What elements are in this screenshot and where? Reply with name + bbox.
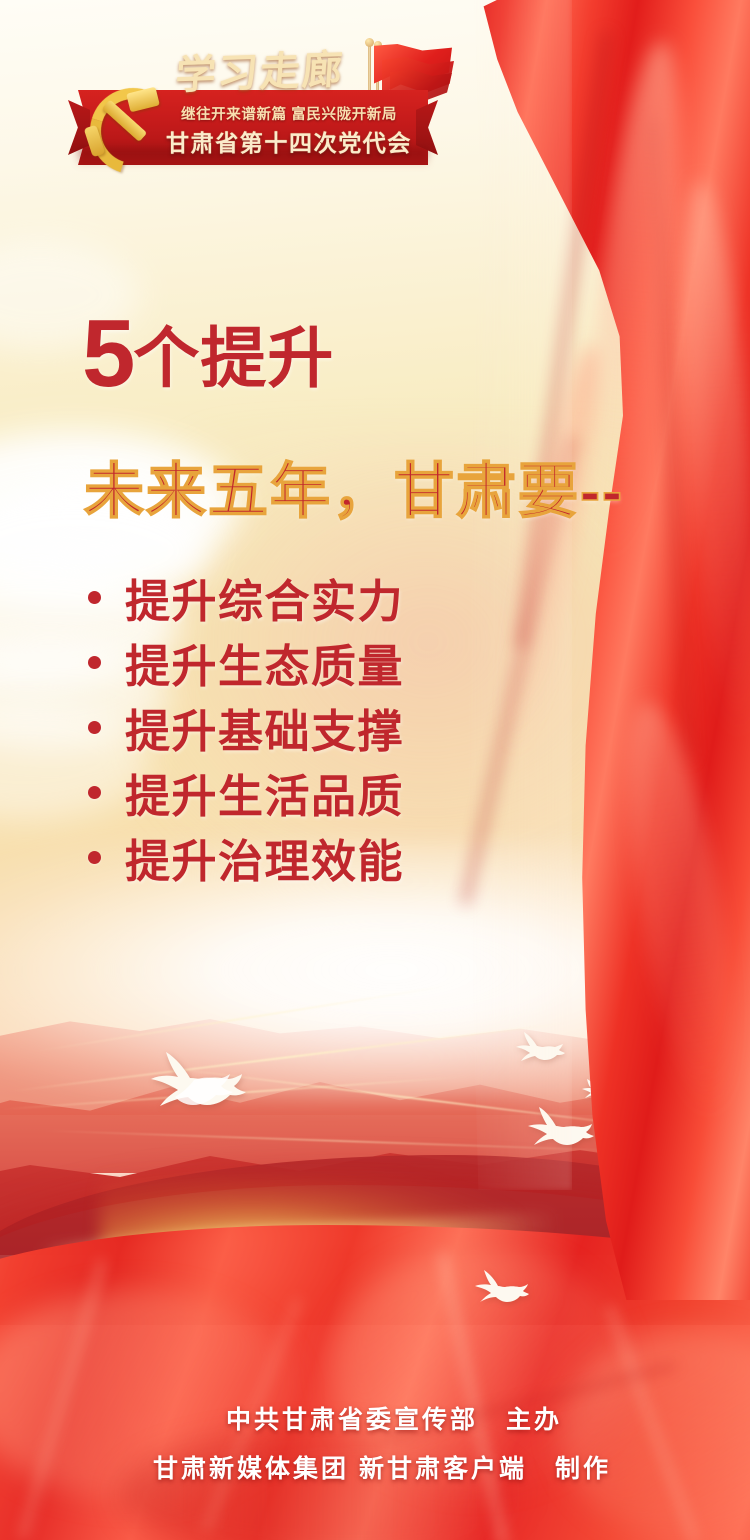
list-item-label: 提升生活品质: [125, 760, 404, 825]
list-item: 提升生态质量: [88, 630, 404, 695]
list-item-label: 提升生态质量: [125, 630, 404, 695]
footer: 中共甘肃省委宣传部 主办 甘肃新媒体集团 新甘肃客户端 制作: [0, 1400, 750, 1485]
list-item-label: 提升治理效能: [125, 825, 404, 890]
banner-subtitle-line2: 甘肃省第十四次党代会: [158, 124, 420, 158]
header-banner: 学习走廊 继往开来谱新篇 富民兴陇开新局 甘肃省第十四次党代会: [78, 40, 428, 165]
bullet-dot-icon: [88, 656, 101, 669]
footer-line-sponsor: 中共甘肃省委宣传部 主办: [0, 1400, 750, 1436]
bullet-dot-icon: [88, 591, 101, 604]
banner-subtitle-line1: 继往开来谱新篇 富民兴陇开新局: [158, 103, 420, 124]
list-item: 提升生活品质: [88, 760, 404, 825]
subheadline: 未来五年，甘肃要--: [84, 443, 624, 530]
list-item: 提升基础支撑: [88, 695, 404, 760]
dove-icon: [468, 1264, 530, 1312]
poster-canvas: 学习走廊 继往开来谱新篇 富民兴陇开新局 甘肃省第十四次党代会 5个提升 未来五…: [0, 0, 750, 1540]
headline-word: 个提升: [133, 321, 334, 395]
headline-number: 5: [82, 300, 133, 407]
list-item: 提升治理效能: [88, 825, 404, 890]
dove-icon: [138, 1040, 246, 1120]
bullet-dot-icon: [88, 786, 101, 799]
bullet-dot-icon: [88, 721, 101, 734]
footer-line-producer: 甘肃新媒体集团 新甘肃客户端 制作: [0, 1449, 750, 1485]
banner-title: 学习走廊: [174, 44, 398, 100]
list-item: 提升综合实力: [88, 565, 404, 630]
list-item-label: 提升综合实力: [125, 565, 404, 630]
bullet-list: 提升综合实力 提升生态质量 提升基础支撑 提升生活品质 提升治理效能: [88, 565, 404, 890]
headline: 5个提升: [82, 306, 334, 402]
bullet-dot-icon: [88, 851, 101, 864]
list-item-label: 提升基础支撑: [125, 695, 404, 760]
